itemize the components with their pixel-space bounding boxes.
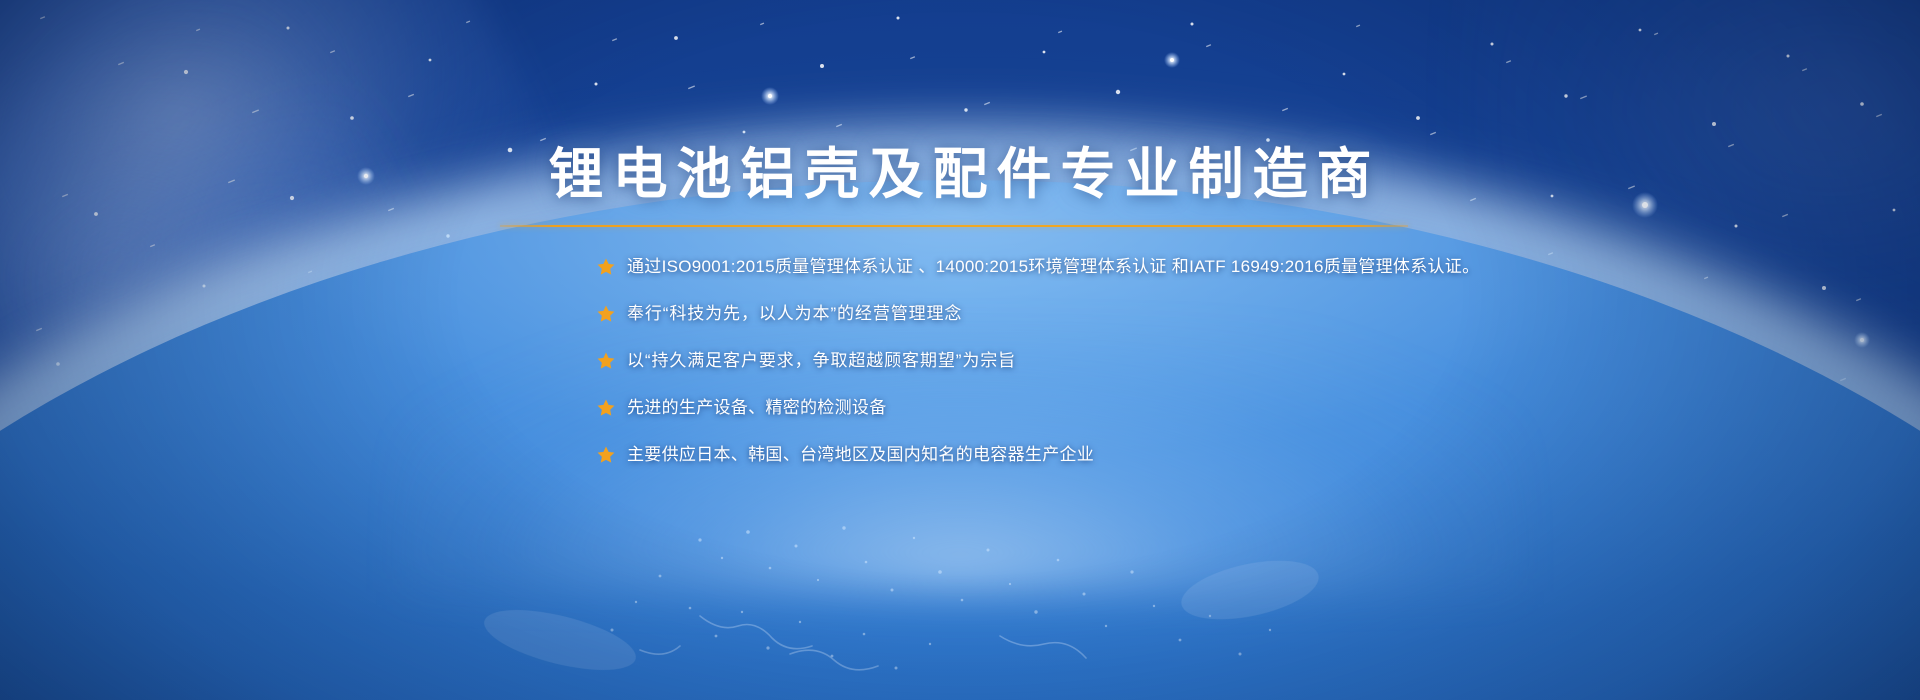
feature-list: 通过ISO9001:2015质量管理体系认证 、14000:2015环境管理体系… [596, 243, 1596, 478]
banner-content: 锂电池铝壳及配件专业制造商 通过ISO9001:2015质量管理体系认证 、14… [0, 0, 1920, 700]
list-item: 主要供应日本、韩国、台湾地区及国内知名的电容器生产企业 [596, 431, 1596, 478]
star-icon [596, 304, 616, 324]
list-item: 奉行“科技为先，以人为本”的经营管理理念 [596, 290, 1596, 337]
star-icon [596, 257, 616, 277]
list-item: 先进的生产设备、精密的检测设备 [596, 384, 1596, 431]
list-item: 通过ISO9001:2015质量管理体系认证 、14000:2015环境管理体系… [596, 243, 1596, 290]
title-divider [500, 225, 1408, 227]
list-item-label: 以“持久满足客户要求，争取超越顾客期望”为宗旨 [627, 349, 1016, 373]
star-icon [596, 398, 616, 418]
list-item: 以“持久满足客户要求，争取超越顾客期望”为宗旨 [596, 337, 1596, 384]
page-title: 锂电池铝壳及配件专业制造商 [0, 142, 1920, 206]
list-item-label: 主要供应日本、韩国、台湾地区及国内知名的电容器生产企业 [627, 443, 1094, 467]
list-item-label: 奉行“科技为先，以人为本”的经营管理理念 [627, 302, 962, 326]
star-icon [596, 445, 616, 465]
hero-banner: 锂电池铝壳及配件专业制造商 通过ISO9001:2015质量管理体系认证 、14… [0, 0, 1920, 700]
list-item-label: 通过ISO9001:2015质量管理体系认证 、14000:2015环境管理体系… [627, 255, 1479, 279]
star-icon [596, 351, 616, 371]
list-item-label: 先进的生产设备、精密的检测设备 [627, 396, 887, 420]
